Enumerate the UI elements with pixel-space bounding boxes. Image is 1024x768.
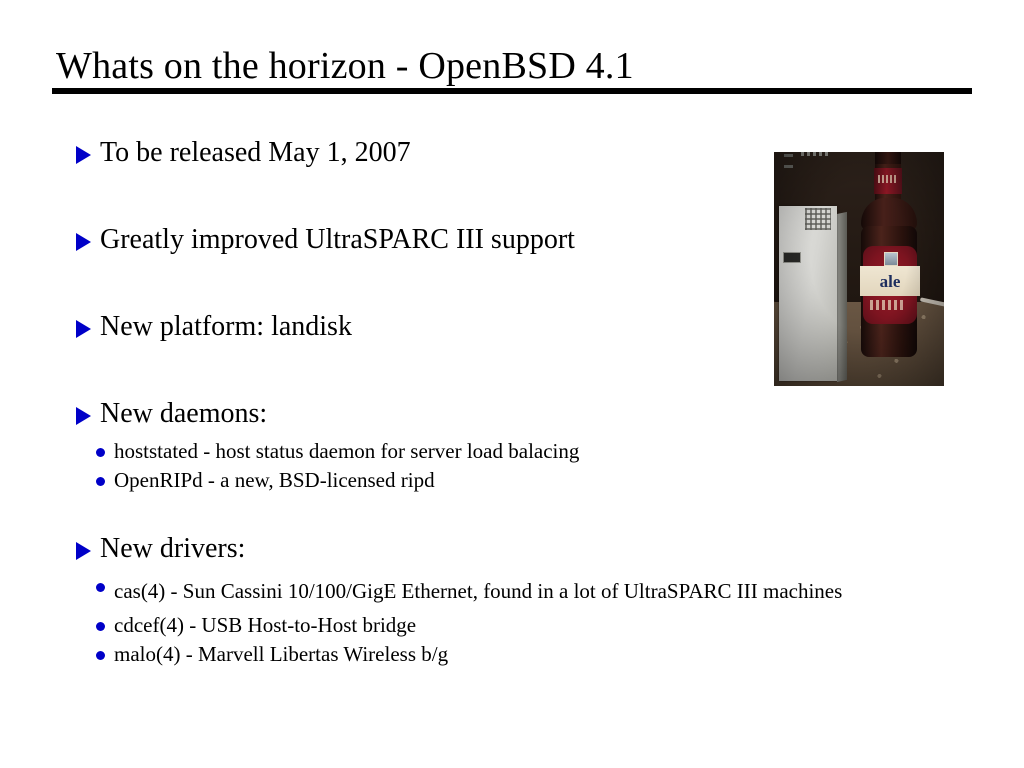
- device-vent-bottom: [805, 208, 831, 230]
- sub-bullet-text: cdcef(4) - USB Host-to-Host bridge: [114, 612, 416, 639]
- sub-bullet-item: OpenRIPd - a new, BSD-licensed ripd: [96, 467, 579, 494]
- bullet-text-4: New drivers:: [100, 533, 245, 565]
- sub-bullet-text: OpenRIPd - a new, BSD-licensed ripd: [114, 467, 435, 494]
- sub-bullet-item: cas(4) - Sun Cassini 10/100/GigE Etherne…: [96, 573, 842, 610]
- device-front-panel: [779, 206, 837, 381]
- bottle-cap: [875, 152, 901, 164]
- bullet-item-2: New platform: landisk: [76, 311, 352, 343]
- bottle-label-band: ale: [860, 266, 920, 296]
- bullet-item-3: New daemons:: [76, 398, 267, 430]
- dot-bullet-icon: [96, 448, 105, 457]
- triangle-bullet-icon: [76, 542, 91, 560]
- triangle-bullet-icon: [76, 233, 91, 251]
- sub-bullet-item: malo(4) - Marvell Libertas Wireless b/g: [96, 641, 842, 668]
- sub-bullet-text: hoststated - host status daemon for serv…: [114, 438, 579, 465]
- triangle-bullet-icon: [76, 146, 91, 164]
- bullet-text-2: New platform: landisk: [100, 311, 352, 343]
- bottle-label-emblem: [884, 252, 898, 266]
- sub-bullet-text: cas(4) - Sun Cassini 10/100/GigE Etherne…: [114, 573, 842, 610]
- bullet-text-3: New daemons:: [100, 398, 267, 430]
- dot-bullet-icon: [96, 651, 105, 660]
- device-label: [801, 152, 831, 156]
- landisk-and-ale-photo: ale: [774, 152, 944, 386]
- device-port: [783, 252, 801, 263]
- sub-list-drivers: cas(4) - Sun Cassini 10/100/GigE Etherne…: [96, 573, 842, 670]
- dot-bullet-icon: [96, 622, 105, 631]
- device-side-panel: [837, 212, 847, 382]
- bullet-item-4: New drivers:: [76, 533, 245, 565]
- dot-bullet-icon: [96, 583, 105, 592]
- bullet-text-1: Greatly improved UltraSPARC III support: [100, 224, 575, 256]
- bullet-item-1: Greatly improved UltraSPARC III support: [76, 224, 575, 256]
- bullet-item-0: To be released May 1, 2007: [76, 137, 411, 169]
- sub-bullet-text: malo(4) - Marvell Libertas Wireless b/g: [114, 641, 448, 668]
- sub-list-daemons: hoststated - host status daemon for serv…: [96, 438, 579, 496]
- sub-bullet-item: cdcef(4) - USB Host-to-Host bridge: [96, 612, 842, 639]
- device-led-strip: [784, 152, 793, 172]
- sub-bullet-item: hoststated - host status daemon for serv…: [96, 438, 579, 465]
- bottle-label-ale-text: ale: [860, 273, 920, 290]
- triangle-bullet-icon: [76, 320, 91, 338]
- triangle-bullet-icon: [76, 407, 91, 425]
- bottle-neck-label: [874, 168, 902, 194]
- ale-bottle: ale: [856, 152, 924, 357]
- slide-body: To be released May 1, 2007 Greatly impro…: [0, 0, 1024, 768]
- dot-bullet-icon: [96, 477, 105, 486]
- bullet-text-0: To be released May 1, 2007: [100, 137, 411, 169]
- bottle-label-footer-text: [870, 300, 906, 310]
